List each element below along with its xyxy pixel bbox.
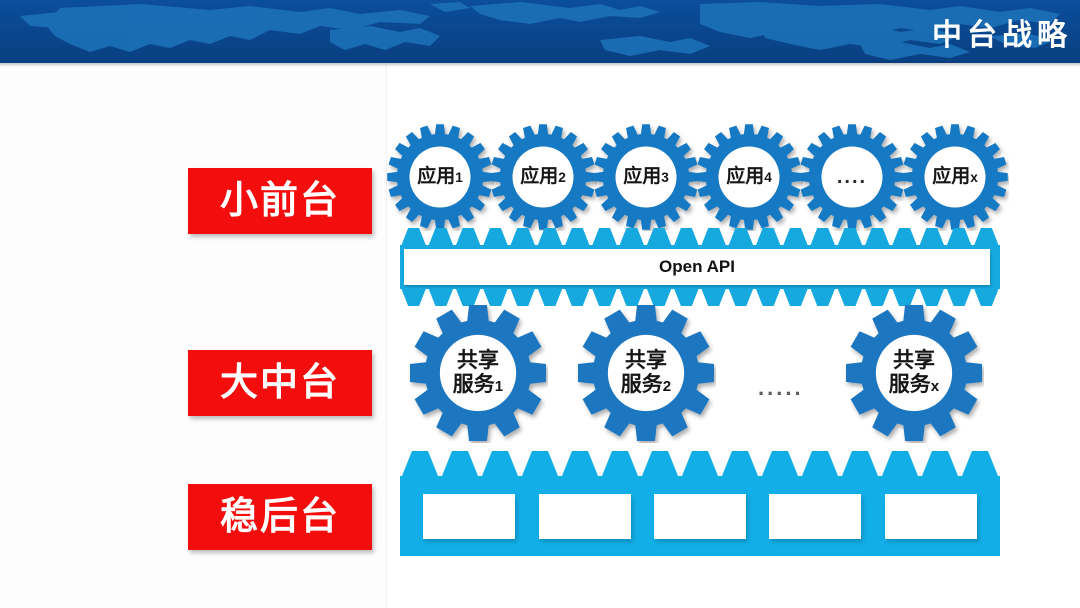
app-gear-name: 应用2 (520, 166, 566, 187)
platform-box-1[interactable] (423, 494, 515, 539)
service-gear-label: 共享服务1 (408, 303, 548, 443)
app-gear-index: 3 (661, 170, 669, 185)
header-banner: 中台战略 (0, 0, 1080, 63)
service-gear-index: 2 (663, 378, 671, 395)
stage-label-back[interactable]: 稳后台 (188, 484, 372, 550)
platform-box-row (400, 476, 1000, 556)
app-gear-label: 应用3 (592, 123, 700, 231)
band-teeth-top (400, 228, 1000, 246)
open-api-band: Open API (400, 228, 1000, 306)
app-gear-index: 1 (455, 170, 463, 185)
app-gear-6[interactable]: 应用x (901, 123, 1009, 231)
app-gear-label: 应用1 (386, 123, 494, 231)
shared-service-gear-row: 共享服务1共享服务2共享服务x (386, 303, 1080, 443)
app-gear-index: x (970, 170, 978, 185)
app-gear-2[interactable]: 应用2 (489, 123, 597, 231)
app-gear-label: 应用2 (489, 123, 597, 231)
slide-canvas: 小前台 大中台 稳后台 应用1应用2应用3应用4....应用x Open API… (0, 63, 1080, 608)
platform-box-2[interactable] (539, 494, 631, 539)
service-gear-line1: 共享 (625, 349, 667, 373)
app-gear-name: 应用4 (726, 166, 772, 187)
stage-label-middle-text: 大中台 (220, 364, 340, 402)
service-gear-1[interactable]: 共享服务1 (408, 303, 548, 443)
platform-box-3[interactable] (654, 494, 746, 539)
open-api-plate[interactable]: Open API (404, 249, 990, 285)
platform-box-5[interactable] (885, 494, 977, 539)
app-gear-label: 应用x (901, 123, 1009, 231)
service-gear-line2: 服务x (889, 373, 939, 397)
page-title: 中台战略 (932, 10, 1072, 54)
stage-label-middle[interactable]: 大中台 (188, 350, 372, 416)
app-gear-label: .... (798, 123, 906, 231)
open-api-label: Open API (659, 257, 735, 277)
app-gear-more[interactable]: .... (798, 123, 906, 231)
app-gear-index: 4 (764, 170, 772, 185)
app-gear-name: 应用1 (417, 166, 463, 187)
platform-box-4[interactable] (769, 494, 861, 539)
architecture-diagram: 应用1应用2应用3应用4....应用x Open API 共享服务1共享服务2共… (386, 63, 1080, 608)
backend-platform (400, 451, 1000, 556)
stage-label-front-text: 小前台 (220, 182, 340, 220)
app-gear-name: 应用x (932, 166, 978, 187)
service-gear-index: 1 (495, 378, 503, 395)
platform-teeth (400, 451, 1000, 477)
app-gear-3[interactable]: 应用3 (592, 123, 700, 231)
service-ellipsis: ..... (758, 375, 804, 401)
app-gear-index: 2 (558, 170, 566, 185)
app-gear-label: 应用4 (695, 123, 803, 231)
header-shadow (0, 63, 1080, 67)
stage-label-back-text: 稳后台 (220, 498, 340, 536)
service-gear-line1: 共享 (893, 349, 935, 373)
service-gear-label: 共享服务x (844, 303, 984, 443)
open-api-bar: Open API (400, 245, 1000, 289)
app-gear-1[interactable]: 应用1 (386, 123, 494, 231)
service-gear-line2: 服务2 (621, 373, 671, 397)
app-gear-name: .... (837, 166, 867, 188)
world-map-background (0, 0, 1080, 63)
service-gear-line1: 共享 (457, 349, 499, 373)
app-gear-4[interactable]: 应用4 (695, 123, 803, 231)
service-gear-index: x (931, 378, 939, 395)
application-gear-row: 应用1应用2应用3应用4....应用x (386, 123, 1080, 233)
app-gear-name: 应用3 (623, 166, 669, 187)
service-gear-2[interactable]: 共享服务2 (576, 303, 716, 443)
service-gear-x[interactable]: 共享服务x (844, 303, 984, 443)
service-gear-line2: 服务1 (453, 373, 503, 397)
service-gear-label: 共享服务2 (576, 303, 716, 443)
stage-label-front[interactable]: 小前台 (188, 168, 372, 234)
